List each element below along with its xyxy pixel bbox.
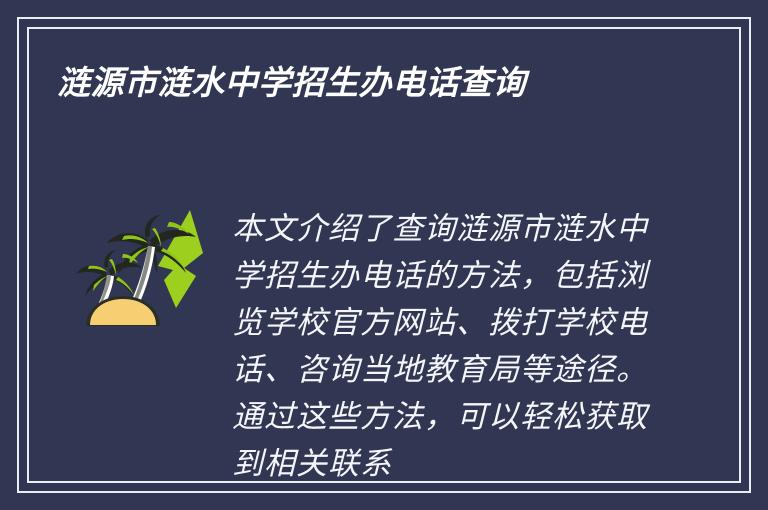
page-title: 涟源市涟水中学招生办电话查询 <box>57 62 717 104</box>
body-paragraph: 本文介绍了查询涟源市涟水中学招生办电话的方法，包括浏览学校官方网站、拨打学校电话… <box>232 206 652 488</box>
sand-mound <box>86 296 160 326</box>
palm-leaf-accent-shape <box>158 210 203 308</box>
palm-tree-island-illustration <box>72 196 208 336</box>
promo-card: 涟源市涟水中学招生办电话查询 <box>0 0 768 510</box>
